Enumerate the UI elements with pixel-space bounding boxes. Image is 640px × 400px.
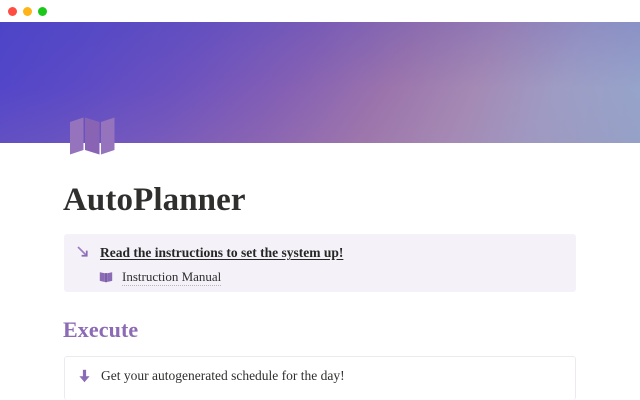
arrow-down-icon [77,367,92,384]
page-title: AutoPlanner [63,184,246,217]
window-titlebar [0,0,640,22]
schedule-callout-text: Get your autogenerated schedule for the … [101,367,345,384]
window-controls [8,7,47,16]
setup-instructions-callout[interactable]: Read the instructions to set the system … [64,234,576,292]
execute-section-heading: Execute [63,319,138,341]
schedule-callout[interactable]: Get your autogenerated schedule for the … [64,356,576,400]
open-book-icon [98,268,113,285]
folded-map-icon[interactable] [68,116,118,160]
callout-heading-row: Read the instructions to set the system … [76,244,562,261]
setup-callout-heading: Read the instructions to set the system … [100,244,343,261]
instruction-manual-link-row[interactable]: Instruction Manual [76,268,562,286]
close-window-button[interactable] [8,7,17,16]
minimize-window-button[interactable] [23,7,32,16]
schedule-callout-row: Get your autogenerated schedule for the … [77,367,561,384]
arrow-down-right-icon [76,244,91,261]
maximize-window-button[interactable] [38,7,47,16]
app-window: AutoPlanner Read the instructions to set… [0,0,640,400]
instruction-manual-link[interactable]: Instruction Manual [122,268,221,286]
